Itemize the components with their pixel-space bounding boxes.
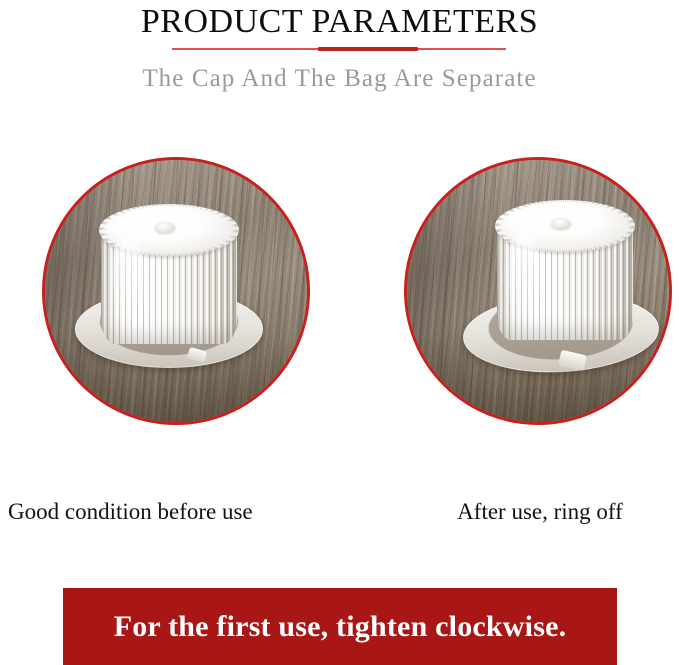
cap-specular-highlight [111,236,145,322]
ring-break-gap [558,350,587,371]
photo-caption-after-use: After use, ring off [404,497,676,527]
page-title: PRODUCT PARAMETERS [0,2,679,42]
product-parameters-infographic: PRODUCT PARAMETERS The Cap And The Bag A… [0,0,679,665]
photo-caption-before-use: Good condition before use [8,497,253,527]
bottle-cap-ring-off [489,198,641,356]
instruction-banner-text: For the first use, tighten clockwise. [114,609,567,645]
bottle-cap-intact [93,202,245,360]
product-photo-after-use [404,157,672,425]
cap-center-nub [551,218,571,229]
divider-accent-segment [318,47,418,51]
instruction-banner: For the first use, tighten clockwise. [63,588,617,665]
page-subtitle: The Cap And The Bag Are Separate [0,63,679,95]
title-divider [172,47,506,50]
product-photo-before-use [42,157,310,425]
cap-specular-highlight [507,232,541,318]
product-photo-row [0,157,679,427]
ring-tab [187,347,208,363]
cap-center-nub [155,222,175,233]
